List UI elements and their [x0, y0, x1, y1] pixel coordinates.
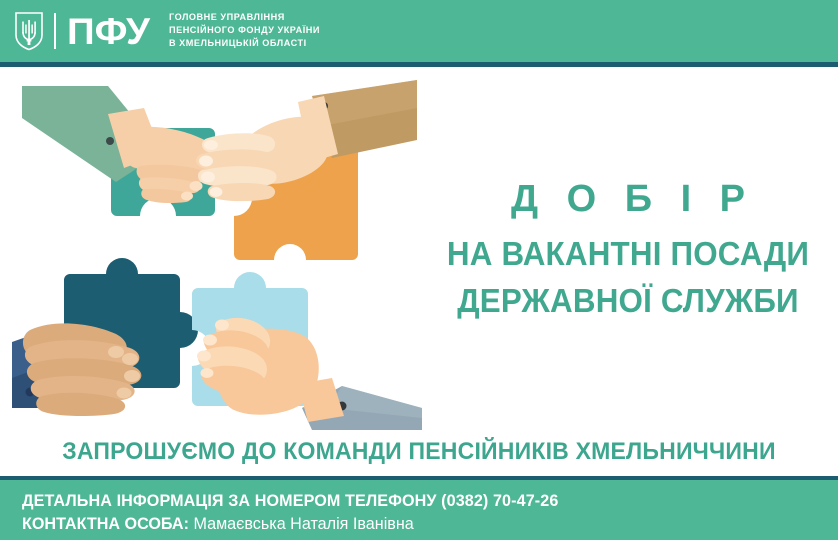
- org-line-1: ГОЛОВНЕ УПРАВЛІННЯ: [169, 12, 320, 24]
- poster-root: ПФУ ГОЛОВНЕ УПРАВЛІННЯ ПЕНСІЙНОГО ФОНДУ …: [0, 0, 838, 540]
- puzzle-hands-illustration: [12, 78, 422, 430]
- header-divider: [54, 13, 56, 49]
- organization-name: ГОЛОВНЕ УПРАВЛІННЯ ПЕНСІЙНОГО ФОНДУ УКРА…: [169, 12, 326, 50]
- footer-contact-person: КОНТАКТНА ОСОБА: Мамаєвська Наталія Іван…: [22, 512, 797, 535]
- headline-line-3: ДЕРЖАВНОЇ СЛУЖБИ: [432, 278, 823, 324]
- footer-phone-info: ДЕТАЛЬНА ІНФОРМАЦІЯ ЗА НОМЕРОМ ТЕЛЕФОНУ …: [22, 489, 797, 512]
- footer-bar: ДЕТАЛЬНА ІНФОРМАЦІЯ ЗА НОМЕРОМ ТЕЛЕФОНУ …: [0, 480, 838, 540]
- header-bar: ПФУ ГОЛОВНЕ УПРАВЛІННЯ ПЕНСІЙНОГО ФОНДУ …: [0, 0, 838, 62]
- tagline-text: ЗАПРОШУЄМО ДО КОМАНДИ ПЕНСІЙНИКІВ ХМЕЛЬН…: [25, 438, 813, 466]
- header-accent-line: [0, 62, 838, 67]
- ukraine-trident-emblem-icon: [14, 11, 44, 51]
- sleeve-button-teal: [106, 137, 114, 145]
- headline-block: Д О Б І Р НА ВАКАНТНІ ПОСАДИ ДЕРЖАВНОЇ С…: [422, 176, 834, 324]
- contact-label: КОНТАКТНА ОСОБА:: [22, 514, 189, 533]
- org-line-2: ПЕНСІЙНОГО ФОНДУ УКРАЇНИ: [169, 25, 320, 37]
- puzzle-illustration-svg: [12, 78, 422, 430]
- headline-line-2: НА ВАКАНТНІ ПОСАДИ: [432, 231, 823, 277]
- org-line-3: В ХМЕЛЬНИЦЬКІЙ ОБЛАСТІ: [169, 38, 320, 50]
- contact-name: Мамаєвська Наталія Іванівна: [193, 514, 413, 533]
- pfu-logo-text: ПФУ: [67, 13, 150, 50]
- headline-line-1: Д О Б І Р: [431, 176, 834, 222]
